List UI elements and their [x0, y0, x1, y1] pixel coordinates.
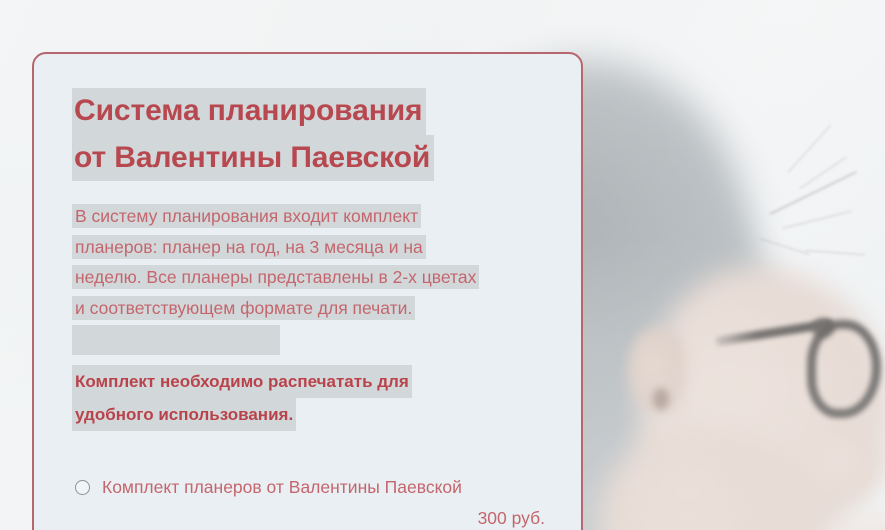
print-note-line-2: удобного использования. [72, 398, 296, 431]
selected-blank-line [72, 325, 280, 355]
product-option-label: Комплект планеров от Валентины Паевской [102, 473, 545, 501]
description-text: В систему планирования входит комплект п… [72, 201, 545, 323]
description-line-2: планеров: планер на год, на 3 месяца и н… [72, 235, 426, 259]
product-option: Комплект планеров от Валентины Паевской … [72, 473, 545, 530]
page-title: Система планирования от Валентины Паевск… [72, 88, 545, 181]
description-line-1: В систему планирования входит комплект [72, 204, 421, 228]
product-option-row[interactable]: Комплект планеров от Валентины Паевской [72, 473, 545, 501]
page-title-line-2: от Валентины Паевской [72, 135, 434, 182]
page-title-line-1: Система планирования [72, 88, 426, 135]
print-note-line-1: Комплект необходимо распечатать для [72, 365, 412, 398]
radio-button-icon[interactable] [75, 480, 90, 495]
product-option-price: 300 руб. [72, 503, 545, 530]
offer-card: Система планирования от Валентины Паевск… [32, 52, 583, 530]
print-note: Комплект необходимо распечатать для удоб… [72, 365, 545, 431]
description-line-3: неделю. Все планеры представлены в 2-х ц… [72, 265, 479, 289]
description-line-4: и соответствующем формате для печати. [72, 296, 415, 320]
